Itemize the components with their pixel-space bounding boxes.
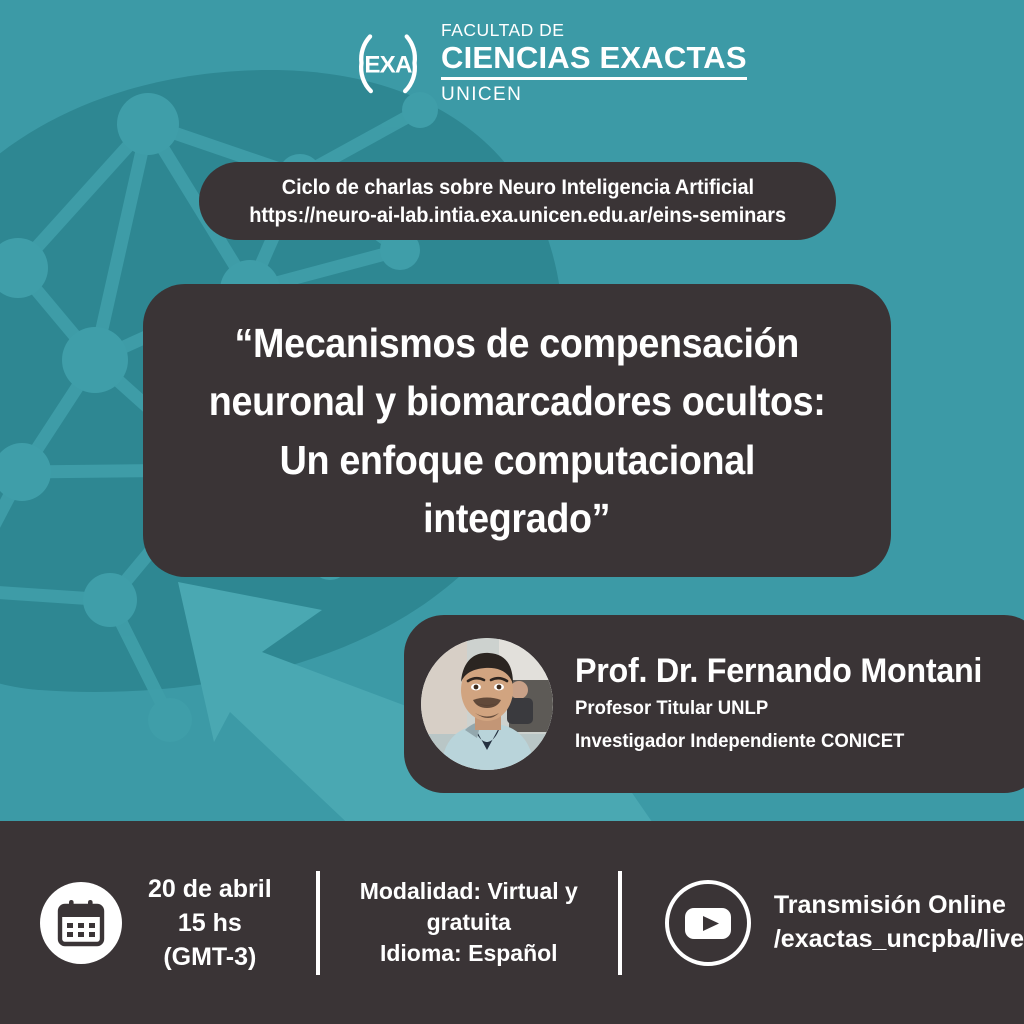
date-line-1: 20 de abril [148,872,272,906]
calendar-icon [55,897,107,949]
stream-line-2: /exactas_uncpba/live [774,923,1024,957]
banner-series-title: Ciclo de charlas sobre Neuro Inteligenci… [281,173,753,201]
logo-line-ciencias-exactas: CIENCIAS EXACTAS [441,42,747,80]
modality-line-3: Idioma: Español [360,938,578,969]
talk-title-line-1: “Mecanismos de compensación [235,314,799,372]
modality-line-1: Modalidad: Virtual y [360,876,578,907]
footer-date-text: 20 de abril 15 hs (GMT-3) [148,872,272,974]
speaker-avatar [421,638,553,770]
banner-series-url[interactable]: https://neuro-ai-lab.intia.exa.unicen.ed… [249,201,786,229]
date-line-2: 15 hs [148,906,272,940]
talk-title-line-3: Un enfoque computacional [279,431,754,489]
talk-title-line-2: neuronal y biomarcadores ocultos: [209,372,826,430]
svg-text:EXA: EXA [364,51,412,78]
footer-modality-block: Modalidad: Virtual y gratuita Idioma: Es… [320,821,618,1024]
exa-unicen-logo: EXA FACULTAD DE CIENCIAS EXACTAS UNICEN [349,22,747,104]
speaker-card: Prof. Dr. Fernando Montani Profesor Titu… [404,615,1024,793]
speaker-role-1: Profesor Titular UNLP [575,695,982,723]
seminar-series-banner: Ciclo de charlas sobre Neuro Inteligenci… [199,162,836,240]
speaker-role-2: Investigador Independiente CONICET [575,728,982,756]
footer-stream-text: Transmisión Online /exactas_uncpba/live [774,889,1024,956]
stream-line-1: Transmisión Online [774,889,1024,923]
date-line-3: (GMT-3) [148,940,272,974]
talk-title-line-4: integrado” [423,489,610,547]
youtube-icon[interactable] [664,879,752,967]
event-details-footer: 20 de abril 15 hs (GMT-3) Modalidad: Vir… [0,821,1024,1024]
logo-line-unicen: UNICEN [441,85,747,104]
footer-stream-block[interactable]: Transmisión Online /exactas_uncpba/live [622,821,1024,1024]
calendar-badge [40,882,122,964]
logo-line-faculty: FACULTAD DE [441,22,747,40]
exa-circle-logo-icon: EXA [349,24,427,102]
talk-title-card: “Mecanismos de compensación neuronal y b… [143,284,891,577]
speaker-portrait-photo [421,638,553,770]
modality-line-2: gratuita [360,907,578,938]
footer-modality-text: Modalidad: Virtual y gratuita Idioma: Es… [360,876,578,970]
speaker-name: Prof. Dr. Fernando Montani [575,652,982,690]
footer-date-block: 20 de abril 15 hs (GMT-3) [0,821,272,1024]
